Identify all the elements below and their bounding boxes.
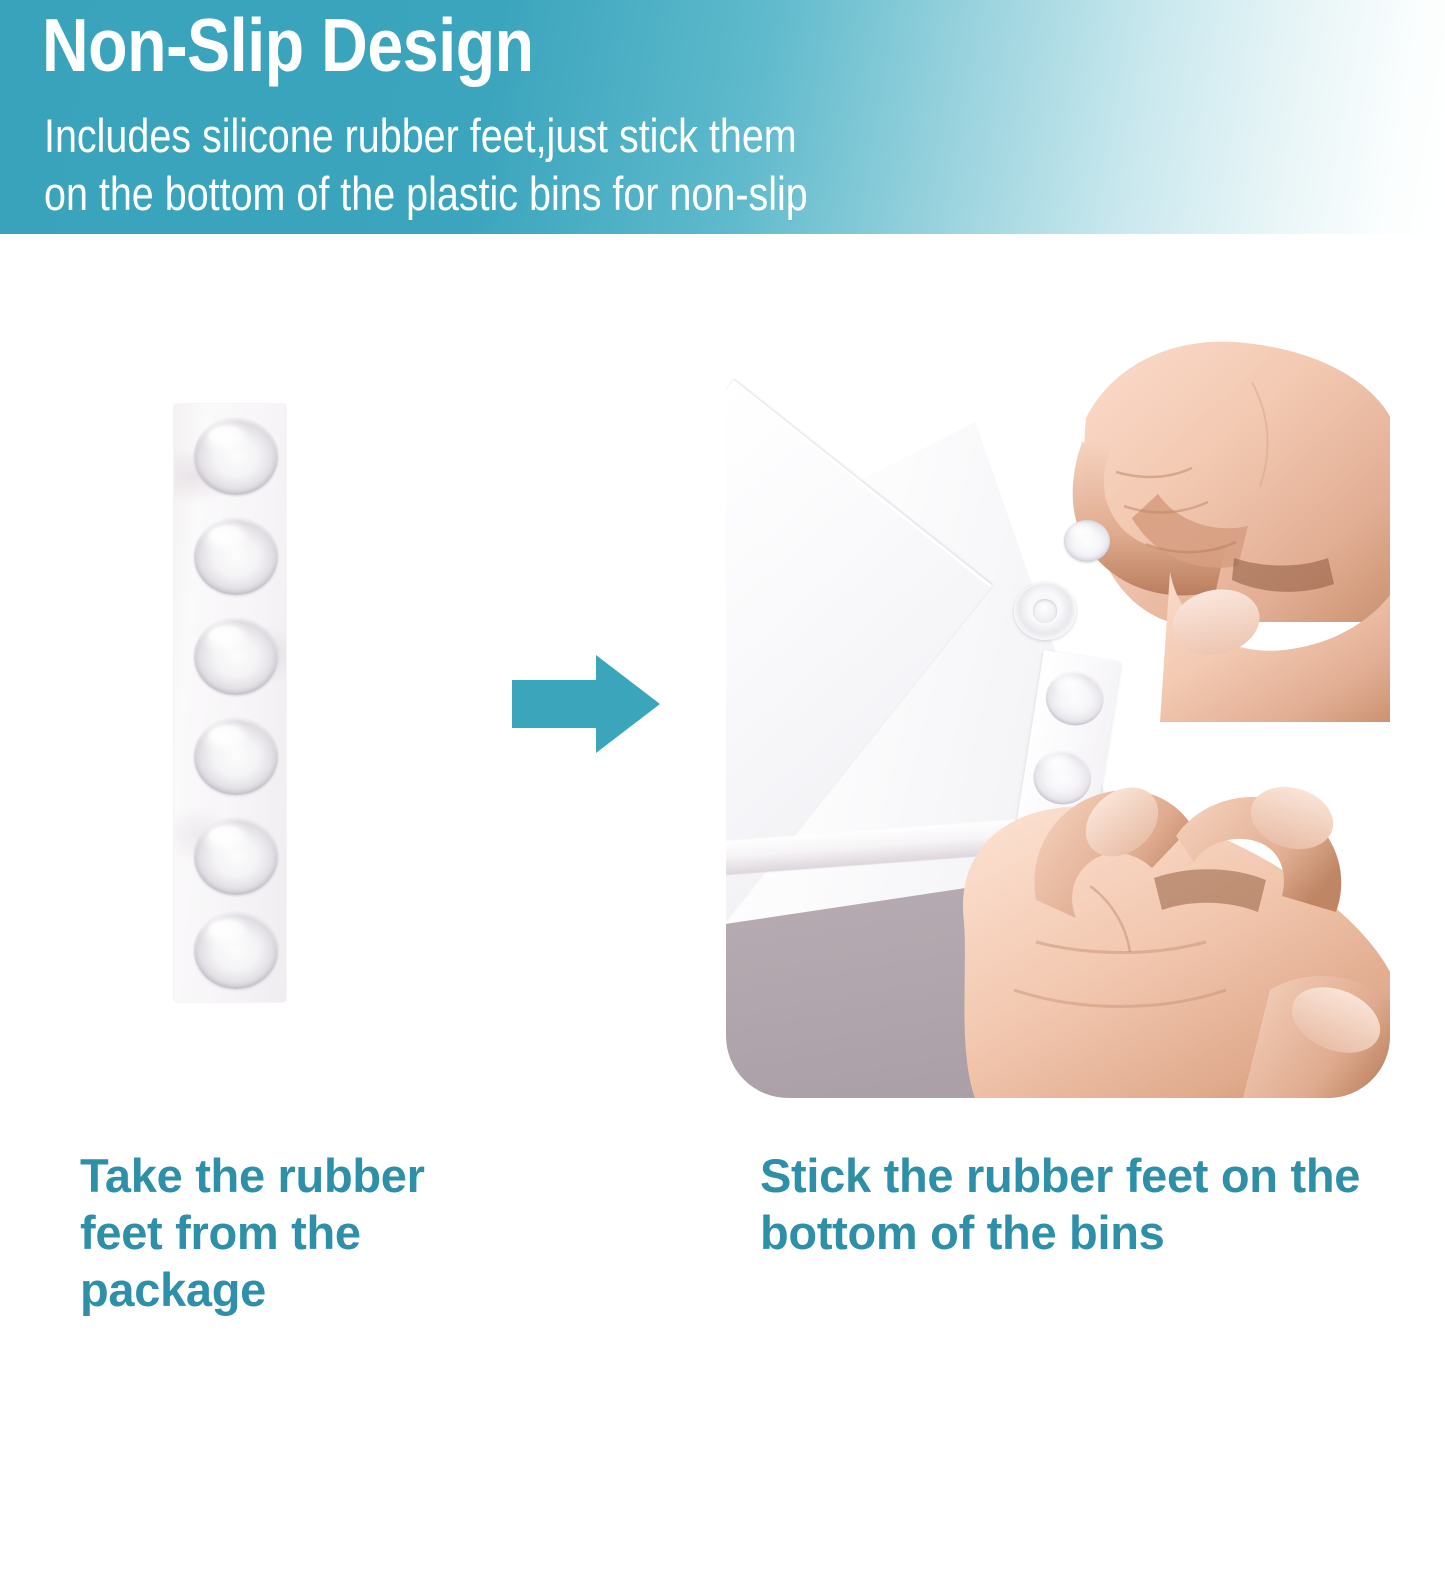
rubber-foot-dome: [1042, 667, 1108, 729]
rubber-feet-strip-image: [174, 404, 286, 1002]
rubber-foot-dome: [194, 912, 278, 989]
header-subtitle-line-1: Includes silicone rubber feet,just stick…: [44, 112, 797, 159]
rubber-foot-dome: [1029, 746, 1095, 808]
right-arrow-icon: [512, 651, 660, 757]
rubber-foot-dome: [194, 618, 278, 695]
rubber-foot-dome: [194, 518, 278, 595]
rubber-foot-dome: [194, 818, 278, 895]
bin-illustration-clip: [726, 302, 1390, 1098]
step-2-caption: Stick the rubber feet on the bottom of t…: [760, 1148, 1400, 1262]
page-title: Non-Slip Design: [42, 6, 534, 85]
rubber-foot-dome: [194, 718, 278, 795]
header-banner: Non-Slip Design Includes silicone rubber…: [0, 0, 1445, 234]
rubber-foot-dome: [1016, 829, 1082, 891]
header-subtitle-line-2: on the bottom of the plastic bins for no…: [44, 170, 808, 217]
step-1-caption: Take the rubber feet from the package: [80, 1148, 510, 1319]
rubber-foot-dome: [194, 418, 278, 495]
bin-corner-boss: [1014, 582, 1076, 640]
held-rubber-foot: [1064, 520, 1110, 562]
